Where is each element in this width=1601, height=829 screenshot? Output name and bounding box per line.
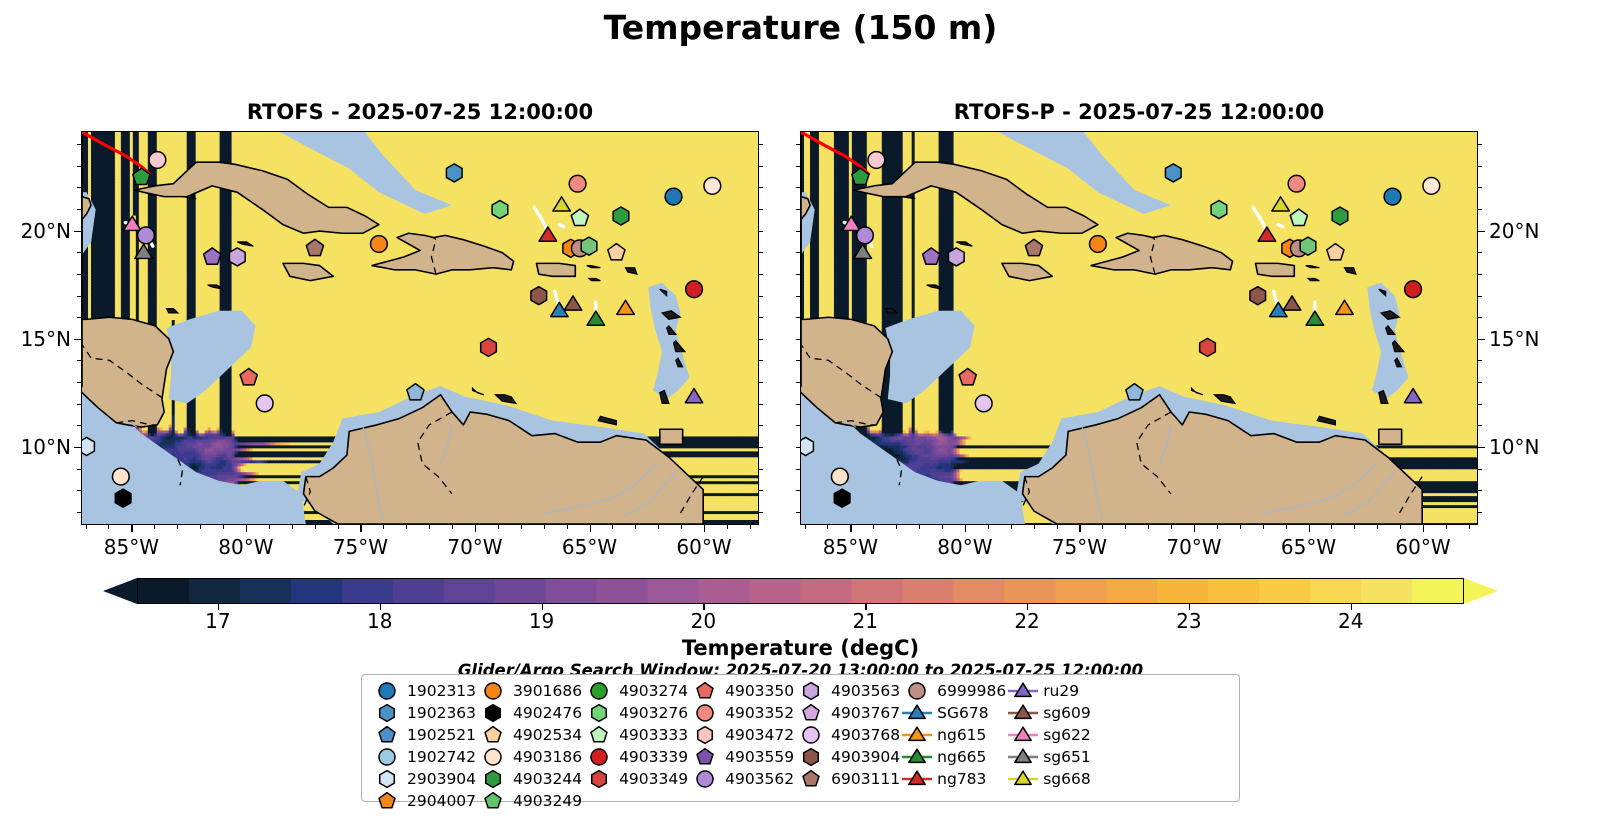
x-minor-tickmark [1331,525,1332,529]
legend-entry-4903349[interactable]: 4903349 [582,768,688,790]
x-minor-tickmark [315,525,316,529]
x-minor-tickmark [1286,525,1287,529]
legend-column-1: 1902313190236319025211902742290390429040… [370,680,476,812]
x-tick-label: 60°W [676,535,731,559]
x-minor-tickmark [1079,525,1080,529]
legend-label: 1902521 [404,726,476,744]
colorbar-tick-label: 20 [691,609,716,633]
x-minor-tickmark [919,525,920,529]
hexagon-marker-icon [370,702,404,724]
x-minor-tickmark [544,525,545,529]
colorbar-tick-label: 19 [529,609,554,633]
legend-marker-4903559 [688,746,722,768]
panel-title-left: RTOFS - 2025-07-25 12:00:00 [81,100,759,124]
colorbar-tick-label: 23 [1176,609,1201,633]
circle-marker-icon [688,768,722,790]
y-minor-tickmark [77,209,81,210]
y-minor-tickmark [796,166,800,167]
map-marker-4903276[interactable] [492,201,508,219]
legend-label: 2903904 [404,770,476,788]
y-minor-tickmark [1478,252,1482,253]
x-minor-tickmark [1148,525,1149,529]
legend-entry-ru29[interactable]: ru29 [1006,680,1091,702]
hexagon-marker-icon [688,724,722,746]
legend-label: 4903559 [722,748,794,766]
map-marker-2903904b[interactable] [1423,177,1440,194]
y-minor-tickmark [796,469,800,470]
y-minor-tickmark [77,512,81,513]
legend-entry-2903904[interactable]: 2903904 [370,768,476,790]
y-minor-tickmark [1478,296,1482,297]
map-marker-1902363[interactable] [1165,164,1181,182]
legend-marker-4902476 [476,702,510,724]
x-minor-tickmark [498,525,499,529]
y-tick-label: 10°N [1489,435,1539,459]
map-marker-1902363[interactable] [446,164,462,182]
x-minor-tickmark [1423,525,1424,529]
map-marker-4903349[interactable] [481,338,497,356]
legend-label: 4903350 [722,682,794,700]
triangle-marker-icon [1006,768,1040,790]
y-minor-tickmark [77,166,81,167]
y-minor-tickmark [77,382,81,383]
y-minor-tickmark [796,274,800,275]
y-minor-tickmark [759,382,763,383]
legend-label: 2904007 [404,792,476,810]
y-minor-tickmark [796,144,800,145]
y-minor-tickmark [77,339,81,340]
x-tick-label: 85°W [823,535,878,559]
map-marker-4903352[interactable] [1288,175,1305,192]
map-marker-4902476[interactable] [115,489,131,507]
x-minor-tickmark [223,525,224,529]
legend-marker-sg609 [1006,702,1040,724]
x-minor-tickmark [727,525,728,529]
y-minor-tickmark [77,187,81,188]
y-minor-tickmark [759,447,763,448]
y-minor-tickmark [1478,512,1482,513]
legend-marker-4903352 [688,702,722,724]
map-panel-rtofs[interactable] [81,131,759,525]
hexagon-marker-icon [476,768,510,790]
x-tick-label: 85°W [104,535,159,559]
legend-entry-4903559[interactable]: 4903559 [688,746,794,768]
legend-entry-4903563[interactable]: 4903563 [794,680,900,702]
legend-marker-4903276 [582,702,616,724]
map-marker-4903276[interactable] [1211,201,1227,219]
legend-label: 4902476 [510,704,582,722]
x-minor-tickmark [827,525,828,529]
x-minor-tickmark [1446,525,1447,529]
map-marker-1902742[interactable] [868,152,885,169]
legend-entry-1902521[interactable]: 1902521 [370,724,476,746]
hexagon-marker-icon [476,702,510,724]
legend-label: 4903352 [722,704,794,722]
legend-entry-4903274[interactable]: 4903274 [582,680,688,702]
y-minor-tickmark [77,425,81,426]
map-marker-4903349[interactable] [1200,338,1216,356]
legend-label: 4903904 [828,748,900,766]
legend-label: 4903276 [616,704,688,722]
legend-column-6: 6999986SG678ng615ng665ng783 [900,680,1006,790]
y-minor-tickmark [759,187,763,188]
legend-entry-4903562[interactable]: 4903562 [688,768,794,790]
x-minor-tickmark [567,525,568,529]
y-minor-tickmark [796,490,800,491]
map-marker-1902313[interactable] [1384,188,1401,205]
legend-marker-4903767 [794,702,828,724]
legend-entry-4903350[interactable]: 4903350 [688,680,794,702]
legend-entry-1902742[interactable]: 1902742 [370,746,476,768]
hexagon-marker-icon [582,768,616,790]
legend-entry-4903244[interactable]: 4903244 [476,768,582,790]
legend-entry-4902534[interactable]: 4902534 [476,724,582,746]
panel-title-right: RTOFS-P - 2025-07-25 12:00:00 [800,100,1478,124]
legend-label: 4903767 [828,704,900,722]
legend-marker-4903904 [794,746,828,768]
legend-marker-4903472 [688,724,722,746]
x-tick-label: 80°W [218,535,273,559]
colorbar-axis-label: Temperature (degC) [0,636,1601,660]
y-minor-tickmark [796,296,800,297]
y-minor-tickmark [759,425,763,426]
map-marker-4903339[interactable] [686,281,703,298]
x-minor-tickmark [1469,525,1470,529]
y-minor-tickmark [759,166,763,167]
legend-label: 4903333 [616,726,688,744]
triangle-marker-icon [900,768,934,790]
x-minor-tickmark [1102,525,1103,529]
legend-label: SG678 [934,704,988,722]
x-minor-tickmark [1400,525,1401,529]
x-minor-tickmark [873,525,874,529]
legend-entry-sg622[interactable]: sg622 [1006,724,1091,746]
x-minor-tickmark [635,525,636,529]
legend-entry-2904007[interactable]: 2904007 [370,790,476,812]
y-tick-label: 20°N [0,219,71,243]
x-minor-tickmark [1354,525,1355,529]
y-minor-tickmark [1478,469,1482,470]
legend-entry-4903333[interactable]: 4903333 [582,724,688,746]
y-tick-label: 15°N [0,327,71,351]
colorbar-gradient [137,578,1464,604]
pentagon-marker-icon [794,702,828,724]
y-minor-tickmark [796,512,800,513]
y-minor-tickmark [1478,447,1482,448]
triangle-marker-icon [1006,680,1040,702]
y-minor-tickmark [77,404,81,405]
map-marker-4903186[interactable] [831,468,848,485]
colorbar-tick-label: 22 [1014,609,1039,633]
map-panel-rtofs-p[interactable] [800,131,1478,525]
legend-entry-ng783[interactable]: ng783 [900,768,1006,790]
y-minor-tickmark [77,360,81,361]
y-minor-tickmark [77,296,81,297]
triangle-marker-icon [900,746,934,768]
y-minor-tickmark [759,360,763,361]
map-marker-4903186[interactable] [112,468,129,485]
legend-marker-6999986 [900,680,934,702]
circle-marker-icon [582,746,616,768]
map-marker-4903352[interactable] [569,175,586,192]
x-minor-tickmark [704,525,705,529]
map-marker-4903562[interactable] [138,227,155,244]
legend-label: ng665 [934,748,986,766]
x-minor-tickmark [292,525,293,529]
x-minor-tickmark [681,525,682,529]
legend-marker-1902363 [370,702,404,724]
legend-marker-sg651 [1006,746,1040,768]
circle-marker-icon [688,702,722,724]
x-minor-tickmark [86,525,87,529]
x-minor-tickmark [1309,525,1310,529]
x-minor-tickmark [750,525,751,529]
legend-entry-6999986[interactable]: 6999986 [900,680,1006,702]
legend-column-4: 49033504903352490347249035594903562 [688,680,794,790]
x-tick-label: 60°W [1395,535,1450,559]
map-marker-4903563[interactable] [948,248,964,266]
legend-marker-4903349 [582,768,616,790]
y-minor-tickmark [77,231,81,232]
map-marker-4903768[interactable] [256,395,273,412]
pentagon-marker-icon [476,790,510,812]
legend-label: sg651 [1040,748,1091,766]
legend-column-3: 49032744903276490333349033394903349 [582,680,688,790]
x-minor-tickmark [1011,525,1012,529]
x-minor-tickmark [942,525,943,529]
y-minor-tickmark [796,382,800,383]
y-minor-tickmark [1478,360,1482,361]
figure-root: Temperature (150 m) RTOFS - 2025-07-25 1… [0,0,1601,829]
x-minor-tickmark [200,525,201,529]
legend-label: sg609 [1040,704,1091,722]
legend-label: 4903274 [616,682,688,700]
map-canvas-right [801,132,1477,524]
legend-entry-6903111[interactable]: 6903111 [794,768,900,790]
x-tick-label: 70°W [447,535,502,559]
legend-label: 3901686 [510,682,582,700]
legend-label: sg668 [1040,770,1091,788]
legend-marker-1902313 [370,680,404,702]
map-marker-2903904[interactable] [82,437,94,455]
map-marker-4903904[interactable] [1250,287,1266,305]
x-minor-tickmark [1171,525,1172,529]
legend-marker-3901686 [476,680,510,702]
legend-box[interactable]: 1902313190236319025211902742290390429040… [361,674,1240,802]
x-minor-tickmark [246,525,247,529]
map-marker-4903249[interactable] [1332,207,1348,225]
legend-entry-4903249[interactable]: 4903249 [476,790,582,812]
legend-label: 4903244 [510,770,582,788]
legend-entry-4903339[interactable]: 4903339 [582,746,688,768]
y-minor-tickmark [796,231,800,232]
legend-marker-ng615 [900,724,934,746]
map-marker-2903904b[interactable] [704,177,721,194]
legend-entry-3901686[interactable]: 3901686 [476,680,582,702]
circle-marker-icon [370,746,404,768]
map-marker-4903768[interactable] [975,395,992,412]
y-minor-tickmark [1478,339,1482,340]
y-minor-tickmark [759,231,763,232]
legend-entry-4903276[interactable]: 4903276 [582,702,688,724]
legend-entry-4902476[interactable]: 4902476 [476,702,582,724]
map-marker-4903904[interactable] [531,287,547,305]
x-tick-label: 75°W [333,535,388,559]
legend-entry-1902363[interactable]: 1902363 [370,702,476,724]
y-minor-tickmark [796,425,800,426]
legend-label: ng783 [934,770,986,788]
map-marker-4903562[interactable] [857,227,874,244]
x-minor-tickmark [896,525,897,529]
pentagon-marker-icon [370,724,404,746]
y-minor-tickmark [759,490,763,491]
legend-marker-4903244 [476,768,510,790]
x-minor-tickmark [1377,525,1378,529]
legend-label: 4903562 [722,770,794,788]
legend-entry-4903186[interactable]: 4903186 [476,746,582,768]
legend-label: 4903186 [510,748,582,766]
y-minor-tickmark [1478,404,1482,405]
y-minor-tickmark [796,187,800,188]
x-minor-tickmark [452,525,453,529]
y-minor-tickmark [1478,231,1482,232]
x-minor-tickmark [131,525,132,529]
y-minor-tickmark [1478,317,1482,318]
legend-entry-4903352[interactable]: 4903352 [688,702,794,724]
x-minor-tickmark [1194,525,1195,529]
triangle-marker-icon [1006,702,1040,724]
x-minor-tickmark [1125,525,1126,529]
legend-entry-sg609[interactable]: sg609 [1006,702,1091,724]
x-minor-tickmark [850,525,851,529]
legend-label: 1902742 [404,748,476,766]
map-marker-4903274[interactable] [581,237,597,255]
legend-label: ng615 [934,726,986,744]
legend-column-5: 49035634903767490376849039046903111 [794,680,900,790]
map-marker-4902476[interactable] [834,489,850,507]
map-marker-1902313[interactable] [665,188,682,205]
legend-marker-4903350 [688,680,722,702]
y-minor-tickmark [77,317,81,318]
colorbar-tick-label: 21 [852,609,877,633]
y-tick-label: 10°N [0,435,71,459]
y-minor-tickmark [759,404,763,405]
map-marker-3901686[interactable] [1090,236,1107,253]
legend-label: sg622 [1040,726,1091,744]
legend-marker-ru29 [1006,680,1040,702]
y-minor-tickmark [77,274,81,275]
y-minor-tickmark [759,317,763,318]
x-minor-tickmark [612,525,613,529]
y-minor-tickmark [759,209,763,210]
y-minor-tickmark [796,360,800,361]
legend-entry-sg651[interactable]: sg651 [1006,746,1091,768]
legend-label: ru29 [1040,682,1079,700]
colorbar-tick-label: 24 [1338,609,1363,633]
legend-entry-4903904[interactable]: 4903904 [794,746,900,768]
legend-label: 4903249 [510,792,582,810]
map-marker-1902742[interactable] [149,152,166,169]
map-marker-4903274[interactable] [1300,237,1316,255]
pentagon-marker-icon [476,724,510,746]
y-minor-tickmark [77,469,81,470]
y-minor-tickmark [796,447,800,448]
legend-marker-ng783 [900,768,934,790]
y-minor-tickmark [759,252,763,253]
y-minor-tickmark [1478,166,1482,167]
x-minor-tickmark [154,525,155,529]
legend-entry-ng665[interactable]: ng665 [900,746,1006,768]
triangle-marker-icon [1006,746,1040,768]
map-marker-4903339[interactable] [1405,281,1422,298]
legend-entry-4903472[interactable]: 4903472 [688,724,794,746]
legend-entry-4903767[interactable]: 4903767 [794,702,900,724]
legend-marker-4903768 [794,724,828,746]
x-minor-tickmark [1034,525,1035,529]
circle-marker-icon [476,680,510,702]
y-minor-tickmark [1478,274,1482,275]
y-minor-tickmark [796,209,800,210]
pentagon-marker-icon [688,746,722,768]
x-minor-tickmark [269,525,270,529]
legend-entry-SG678[interactable]: SG678 [900,702,1006,724]
legend-label: 4903472 [722,726,794,744]
x-minor-tickmark [805,525,806,529]
legend-marker-2904007 [370,790,404,812]
x-minor-tickmark [383,525,384,529]
map-marker-4903249[interactable] [613,207,629,225]
y-minor-tickmark [759,469,763,470]
legend-marker-4903249 [476,790,510,812]
circle-marker-icon [794,724,828,746]
colorbar-tick-label: 17 [205,609,230,633]
map-marker-4903563[interactable] [229,248,245,266]
y-minor-tickmark [759,274,763,275]
y-minor-tickmark [1478,382,1482,383]
y-minor-tickmark [759,296,763,297]
circle-marker-icon [370,680,404,702]
x-minor-tickmark [108,525,109,529]
legend-label: 1902313 [404,682,476,700]
y-tick-label: 15°N [1489,327,1539,351]
x-minor-tickmark [988,525,989,529]
legend-marker-SG678 [900,702,934,724]
y-minor-tickmark [77,252,81,253]
pentagon-marker-icon [370,790,404,812]
map-marker-2903904[interactable] [801,437,813,455]
x-tick-label: 70°W [1166,535,1221,559]
legend-entry-sg668[interactable]: sg668 [1006,768,1091,790]
legend-label: 1902363 [404,704,476,722]
hexagon-marker-icon [794,746,828,768]
x-minor-tickmark [658,525,659,529]
y-minor-tickmark [1478,490,1482,491]
legend-label: 4903349 [616,770,688,788]
legend-entry-1902313[interactable]: 1902313 [370,680,476,702]
legend-marker-4903339 [582,746,616,768]
circle-marker-icon [476,746,510,768]
legend-marker-sg668 [1006,768,1040,790]
glider-track-white [1278,225,1283,227]
legend-marker-4903333 [582,724,616,746]
glider-track-white [559,225,564,227]
map-canvas-left [82,132,758,524]
colorbar[interactable]: 1718192021222324 [103,578,1498,604]
legend-entry-4903768[interactable]: 4903768 [794,724,900,746]
legend-entry-ng615[interactable]: ng615 [900,724,1006,746]
map-marker-3901686[interactable] [371,236,388,253]
y-minor-tickmark [1478,425,1482,426]
